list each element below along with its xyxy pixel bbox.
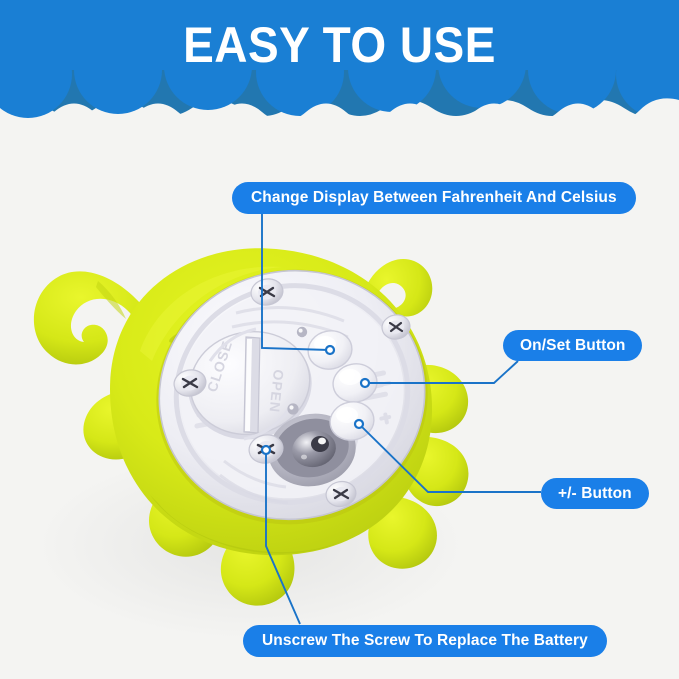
header-banner: EASY TO USE bbox=[0, 0, 679, 145]
stud-mid bbox=[287, 403, 298, 414]
callout-label-plus-minus-button[interactable]: +/- Button bbox=[541, 478, 649, 509]
page-title: EASY TO USE bbox=[27, 14, 652, 76]
callout-label-on-set-button[interactable]: On/Set Button bbox=[503, 330, 642, 361]
callout-label-unscrew-battery[interactable]: Unscrew The Screw To Replace The Battery bbox=[243, 625, 607, 657]
product-photo: CLOSE OPEN bbox=[0, 145, 679, 679]
crab-thermometer-illustration: CLOSE OPEN bbox=[0, 145, 679, 679]
callout-label-change-display[interactable]: Change Display Between Fahrenheit And Ce… bbox=[232, 182, 636, 214]
